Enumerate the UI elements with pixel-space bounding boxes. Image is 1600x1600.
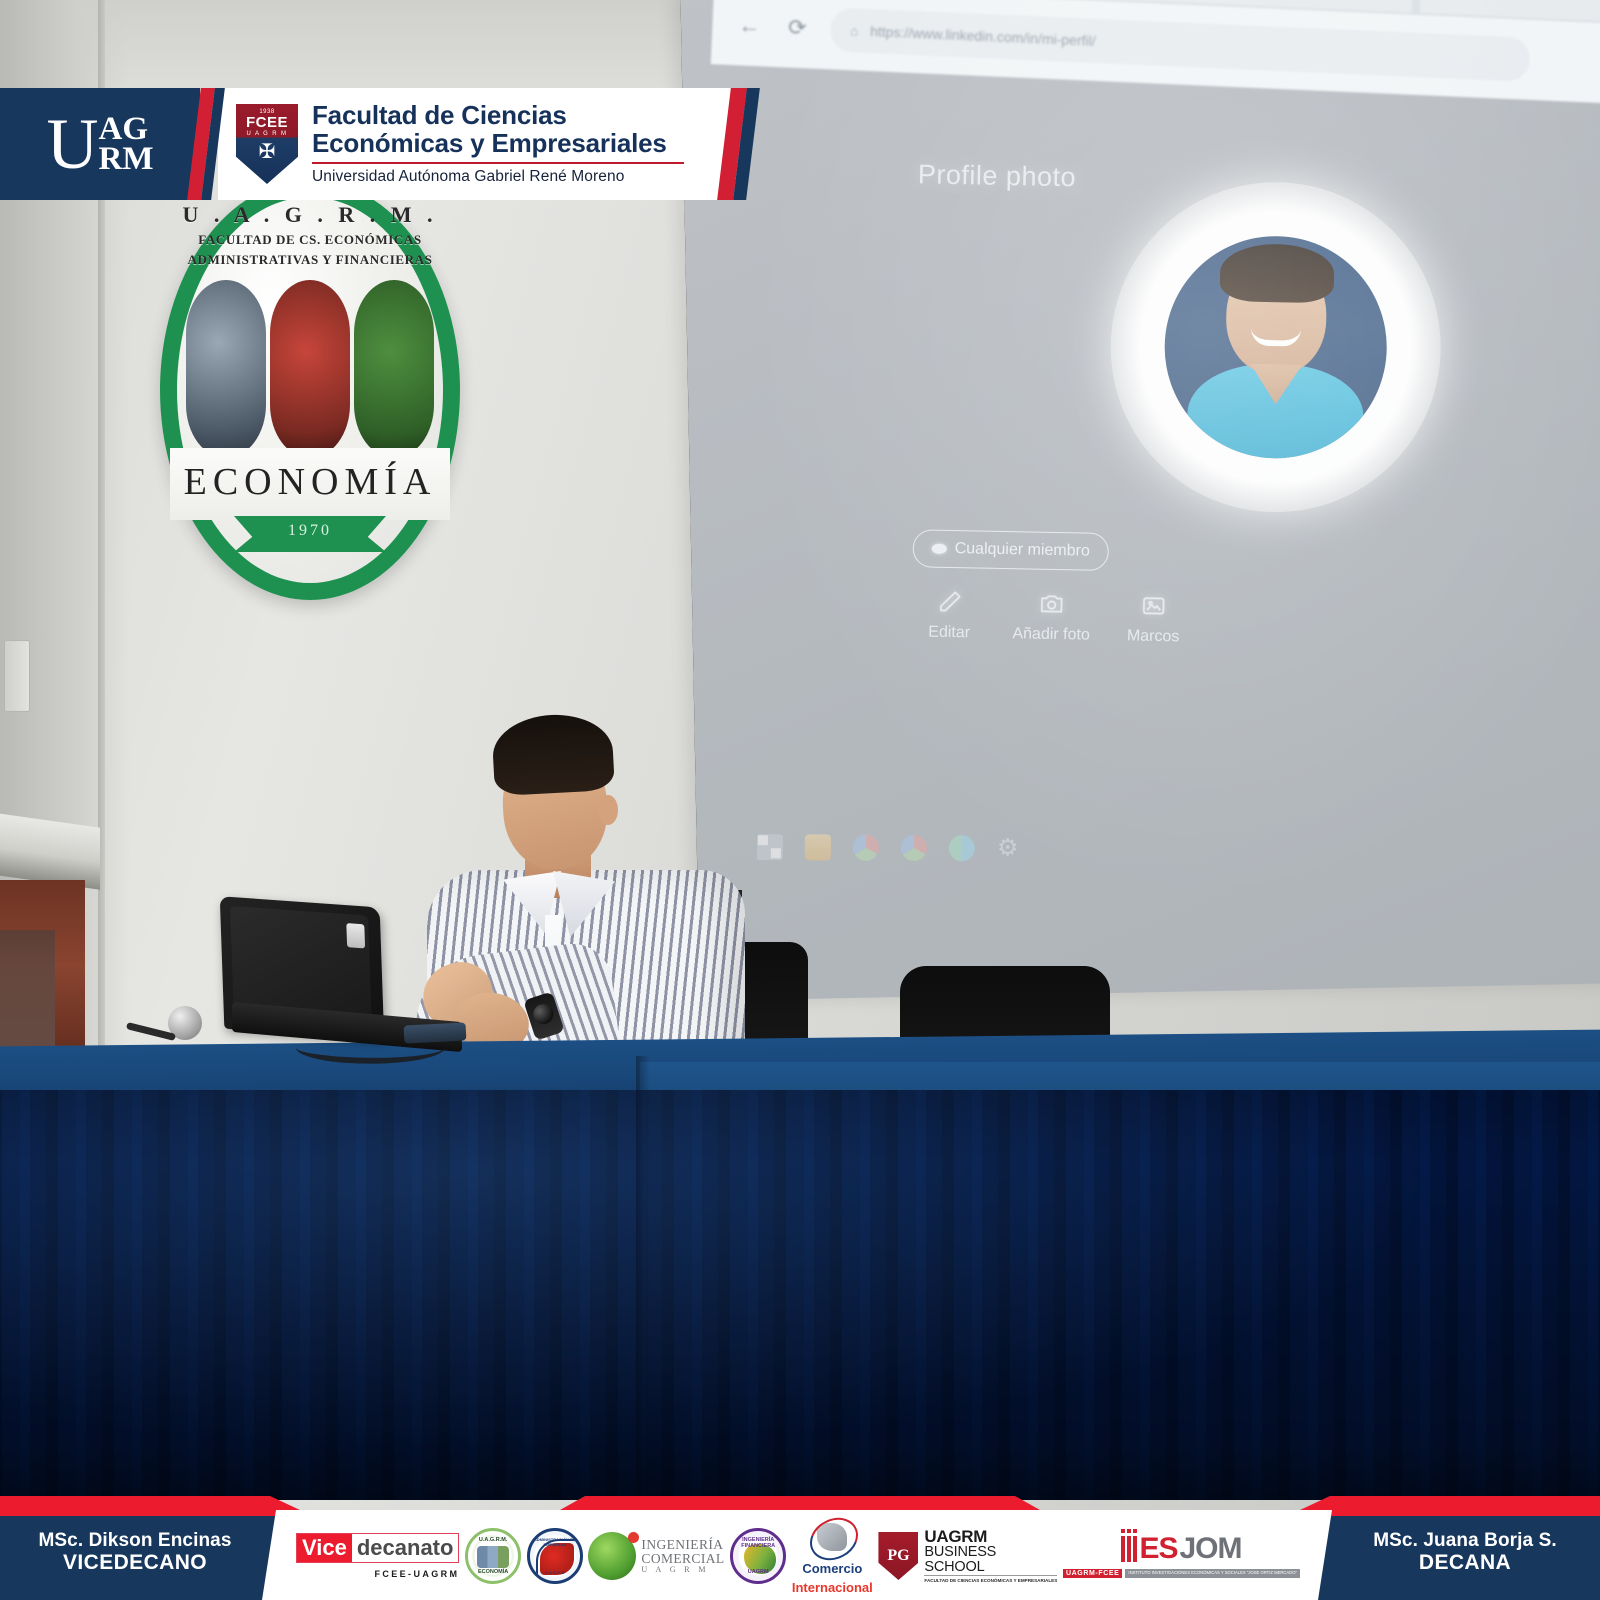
iiesjom-sub-b: INSTITUTO INVESTIGACIONES ECONÓMICAS Y S… — [1125, 1569, 1300, 1578]
uagrm-letters-ag: AG — [99, 114, 154, 144]
wall-fixture — [4, 640, 30, 712]
vicedecanato-part-b: decanato — [352, 1534, 459, 1562]
emblem-line-3: ADMINISTRATIVAS Y FINANCIERAS — [160, 252, 460, 268]
camera-icon — [1003, 583, 1100, 625]
financiera-seal-bottom: UAGRM — [733, 1569, 783, 1575]
footer-banner: MSc. Dikson Encinas VICEDECANO MSc. Juan… — [0, 1496, 1600, 1600]
economia-seal-top: U.A.G.R.M. — [468, 1537, 518, 1543]
financiera-seal-top: INGENIERÍA FINANCIERA — [733, 1537, 783, 1549]
header-banner: U AG RM 1938 FCEE U A G R M ✠ Facultad d… — [0, 88, 740, 200]
ingenieria-comercial-mark-icon — [588, 1532, 636, 1580]
vicedecano-role: VICEDECANO — [10, 1551, 260, 1575]
table-join-shadow — [636, 1056, 650, 1504]
iiesjom-bars-icon — [1121, 1536, 1137, 1562]
pencil-icon — [901, 581, 998, 623]
chrome-icon[interactable] — [853, 835, 879, 861]
edit-photo-button[interactable]: Editar — [901, 581, 998, 643]
iiesjom-part-a: ES — [1139, 1535, 1177, 1562]
comercio-line-1: Comercio — [802, 1562, 862, 1576]
logo-uagrm-business-school: PG UAGRM BUSINESS SCHOOL FACULTAD DE CIE… — [878, 1528, 1057, 1584]
cross-icon: ✠ — [259, 142, 276, 162]
eye-icon — [932, 544, 947, 554]
decana-block: MSc. Juana Borja S. DECANA — [1340, 1530, 1590, 1575]
ingenieria-comercial-line-2: COMERCIAL — [641, 1552, 724, 1566]
logo-economia: U.A.G.R.M. ECONOMÍA — [465, 1528, 521, 1584]
faculty-line-2: Económicas y Empresariales — [312, 130, 684, 158]
projected-taskbar: ⚙ — [757, 824, 1057, 872]
table-skirt-highlight — [0, 1090, 1600, 1500]
ingenieria-comercial-line-3: U A G R M — [641, 1566, 724, 1574]
presentation-photo-card: U . A . G . R . M . FACULTAD DE CS. ECON… — [0, 0, 1600, 1600]
header-faculty-block: 1938 FCEE U A G R M ✠ Facultad de Cienci… — [218, 88, 740, 200]
decana-role: DECANA — [1340, 1551, 1590, 1575]
business-school-line-2: BUSINESS — [924, 1545, 1057, 1560]
pg-shield-icon: PG — [878, 1532, 918, 1580]
visibility-pill[interactable]: Cualquier miembro — [912, 529, 1109, 571]
chrome-icon[interactable] — [901, 835, 927, 861]
logo-vicedecanato: Vice decanato FCEE-UAGRM — [296, 1533, 459, 1579]
uagrm-letters-rm: RM — [99, 144, 154, 174]
logo-ingenieria-financiera: INGENIERÍA FINANCIERA UAGRM — [730, 1528, 786, 1584]
presenter — [385, 715, 745, 1055]
shield-name: FCEE — [246, 115, 288, 130]
file-explorer-icon[interactable] — [805, 834, 831, 860]
emblem-main-text: ECONOMÍA — [160, 460, 460, 504]
frames-label: Marcos — [1105, 627, 1201, 647]
economia-seal-bottom: ECONOMÍA — [468, 1569, 518, 1575]
vicedecanato-sub: FCEE-UAGRM — [374, 1569, 459, 1579]
business-school-sub: FACULTAD DE CIENCIAS ECONÓMICAS Y EMPRES… — [924, 1578, 1057, 1584]
uagrm-letter-u: U — [47, 111, 97, 177]
decana-name: MSc. Juana Borja S. — [1340, 1530, 1590, 1551]
iiesjom-part-b: JOM — [1179, 1535, 1241, 1562]
fcee-shield-icon: 1938 FCEE U A G R M ✠ — [236, 104, 298, 184]
settings-gear-icon[interactable]: ⚙ — [997, 835, 1019, 861]
windows-start-icon[interactable] — [757, 834, 783, 860]
logo-administracion-de-empresas: ADMINISTRACIÓN DE EMPRESAS U A G R M — [527, 1528, 583, 1584]
add-photo-label: Añadir foto — [1003, 625, 1099, 645]
vicedecano-name: MSc. Dikson Encinas — [10, 1530, 260, 1551]
uagrm-logo: U AG RM — [0, 88, 200, 200]
emblem-artwork — [186, 280, 434, 458]
faculty-line-1: Facultad de Ciencias — [312, 102, 684, 130]
vicedecanato-part-a: Vice — [297, 1534, 352, 1562]
add-photo-button[interactable]: Añadir foto — [1003, 583, 1100, 645]
university-name: Universidad Autónoma Gabriel René Moreno — [312, 168, 684, 186]
photo-action-row: Editar Añadir foto — [901, 581, 1202, 647]
shield-sub: U A G R M — [247, 131, 288, 137]
phone — [404, 1022, 467, 1043]
profile-photo-heading: Profile photo — [918, 159, 1077, 193]
admin-seal-bottom: U A G R M — [530, 1570, 580, 1575]
logo-ingenieria-comercial: INGENIERÍA COMERCIAL U A G R M — [588, 1532, 724, 1580]
emblem-line-1: U . A . G . R . M . — [160, 202, 460, 228]
vicedecano-block: MSc. Dikson Encinas VICEDECANO — [10, 1530, 260, 1575]
emblem-year: 1970 — [160, 522, 460, 540]
business-school-line-1: UAGRM — [924, 1528, 1057, 1545]
frames-button[interactable]: Marcos — [1105, 585, 1202, 647]
globe-orbit-icon — [807, 1517, 857, 1557]
ingenieria-comercial-line-1: INGENIERÍA — [641, 1538, 724, 1552]
logo-iiesjom: ES JOM UAGRM-FCEE INSTITUTO INVESTIGACIO… — [1063, 1535, 1300, 1578]
header-divider — [312, 162, 684, 164]
footer-logo-row: Vice decanato FCEE-UAGRM U.A.G.R.M. ECON… — [288, 1516, 1308, 1596]
pg-badge-text: PG — [887, 1547, 909, 1565]
business-school-line-3: SCHOOL — [924, 1560, 1057, 1577]
iiesjom-sub-a: UAGRM-FCEE — [1063, 1569, 1122, 1578]
emblem-line-2: FACULTAD DE CS. ECONÓMICAS — [160, 232, 460, 248]
edge-icon[interactable] — [949, 835, 975, 861]
wall-emblem-economia: U . A . G . R . M . FACULTAD DE CS. ECON… — [160, 180, 460, 600]
comercio-line-2: Internacional — [792, 1581, 873, 1595]
logo-comercio-internacional: Comercio Internacional — [792, 1517, 873, 1594]
visibility-label: Cualquier miembro — [955, 540, 1090, 561]
admin-seal-top: ADMINISTRACIÓN DE EMPRESAS — [530, 1537, 580, 1547]
edit-photo-label: Editar — [901, 623, 997, 643]
projection-screen: Inicio - Canva ✕ Optimiza tu LinkedIn - … — [680, 0, 1600, 1001]
frames-icon — [1105, 585, 1202, 627]
